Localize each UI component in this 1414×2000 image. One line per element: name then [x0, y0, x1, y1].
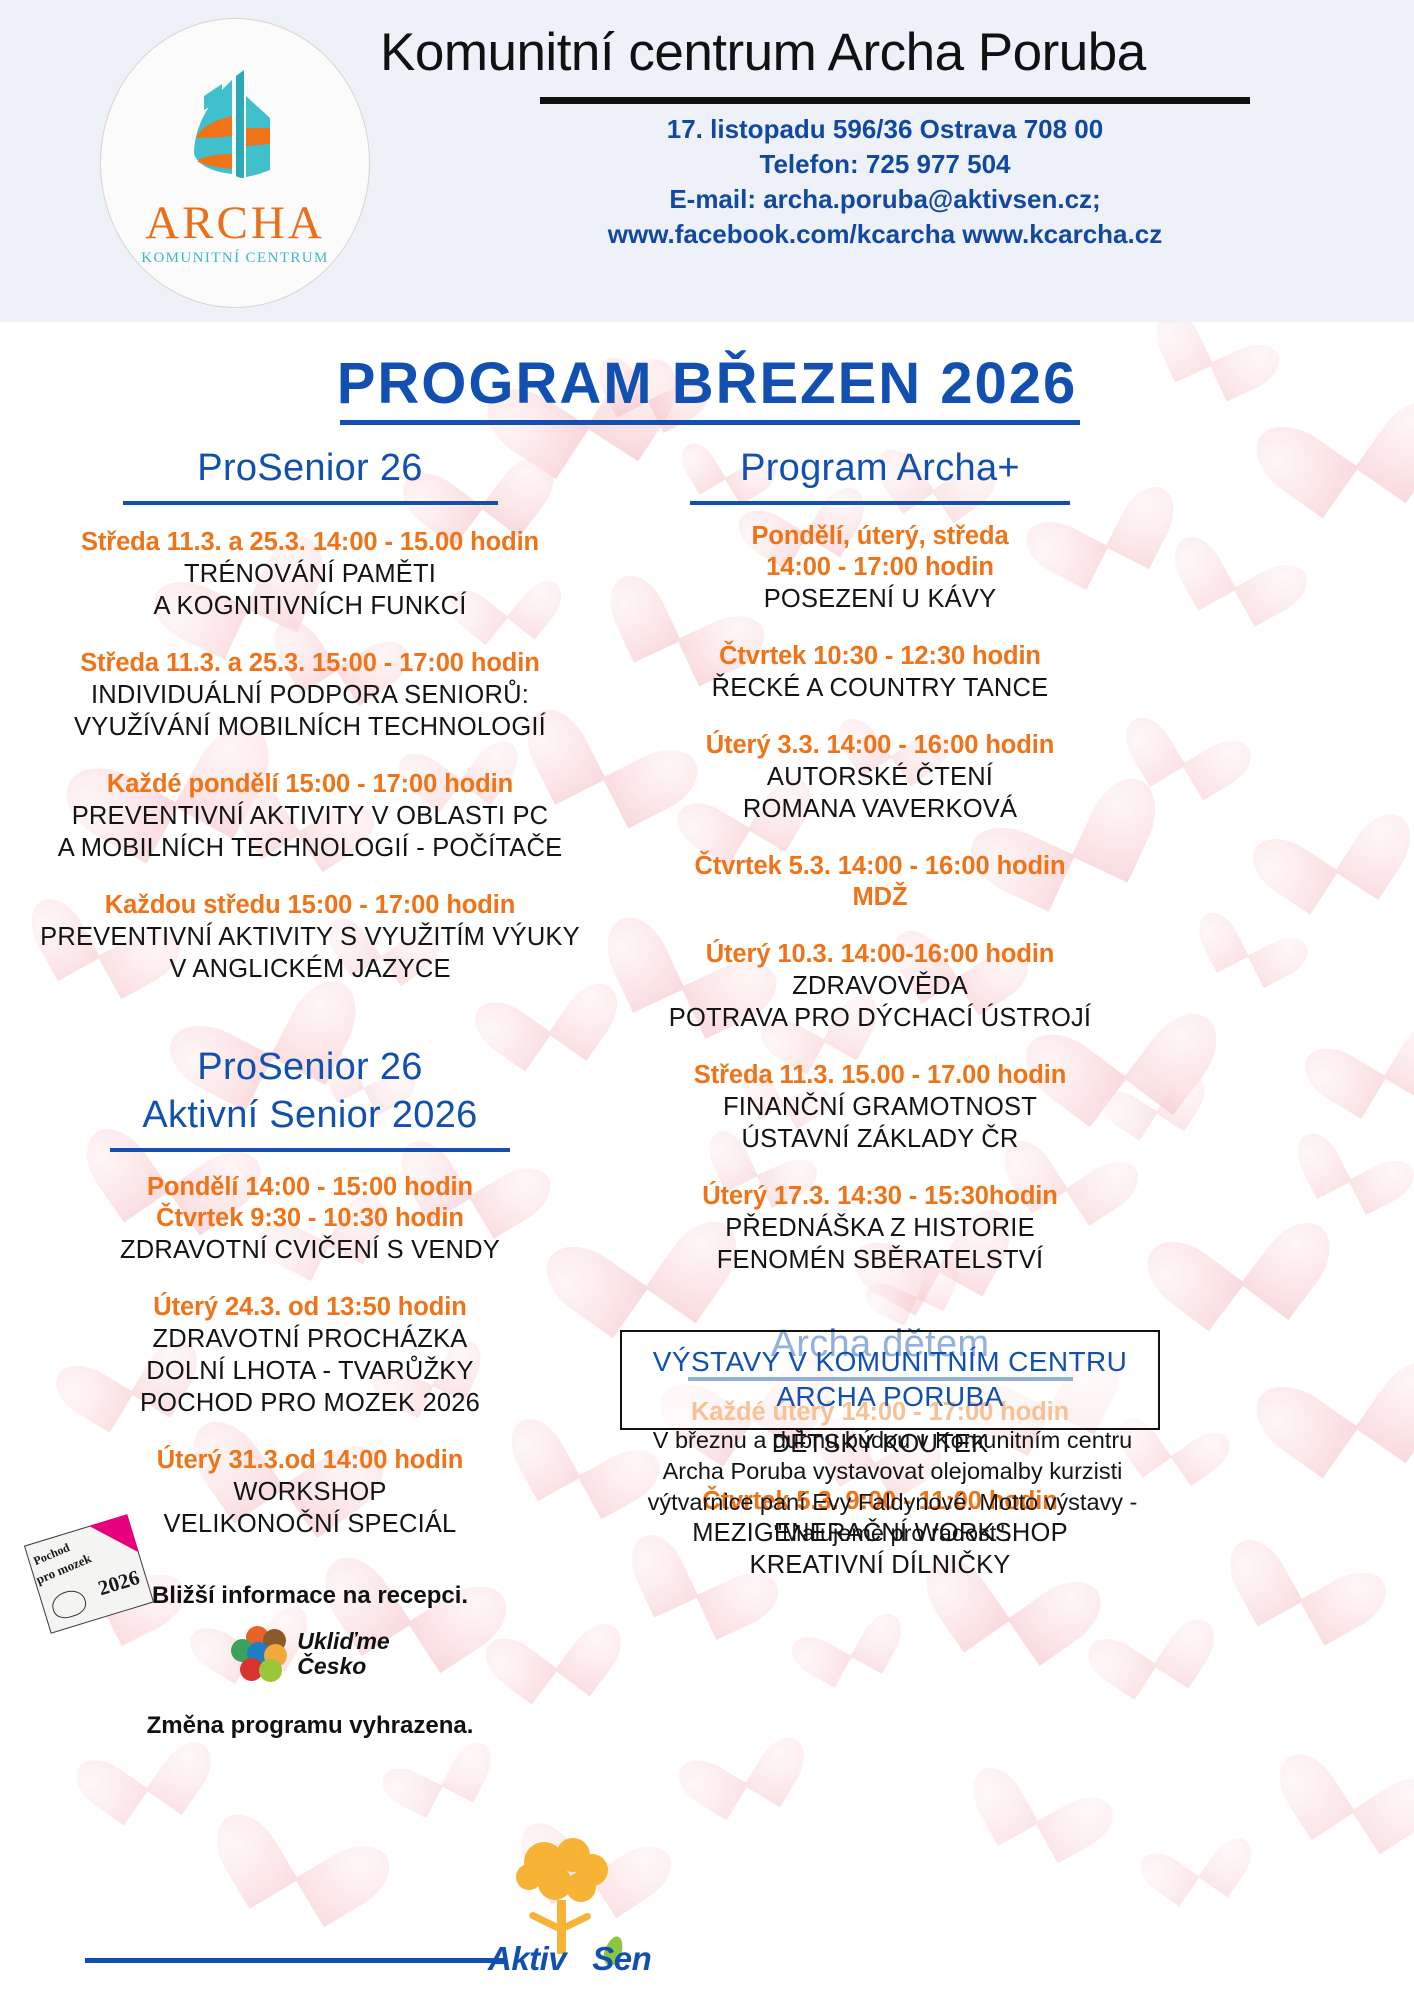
aktivsen-word-part1: Aktiv [488, 1940, 566, 1977]
contact-email[interactable]: E-mail: archa.poruba@aktivsen.cz; [380, 182, 1390, 217]
event-item: Středa 11.3. 15.00 - 17.00 hodin FINANČN… [600, 1060, 1160, 1155]
archa-logo: ARCHA KOMUNITNÍ CENTRUM [100, 18, 370, 308]
exhibition-desc-line: Archa Poruba vystavovat olejomalby kurzi… [610, 1456, 1175, 1487]
aktivsen-wordmark: AktivSen [488, 1940, 688, 1978]
aktivsen-logo: AktivSen [488, 1838, 688, 1993]
section-divider [110, 1148, 510, 1152]
event-item: Pondělí, úterý, středa 14:00 - 17:00 hod… [600, 521, 1160, 615]
uklidme-cesko-flower-icon [230, 1626, 286, 1682]
section-heading-line2: Aktivní Senior 2026 [30, 1091, 590, 1139]
section-divider [690, 501, 1070, 505]
event-item: Čtvrtek 5.3. 14:00 - 16:00 hodin MDŽ [600, 851, 1160, 913]
program-poster: ARCHA KOMUNITNÍ CENTRUM Komunitní centru… [0, 0, 1414, 2000]
event-item: Středa 11.3. a 25.3. 15:00 - 17:00 hodin… [30, 648, 590, 743]
page-title: PROGRAM BŘEZEN 2026 [0, 350, 1414, 417]
event-item: Pondělí 14:00 - 15:00 hodin Čtvrtek 9:30… [30, 1172, 590, 1266]
contact-address: 17. listopadu 596/36 Ostrava 708 00 [380, 112, 1390, 147]
header-band: ARCHA KOMUNITNÍ CENTRUM Komunitní centru… [0, 0, 1414, 322]
section-prosenior-26: ProSenior 26 Středa 11.3. a 25.3. 14:00 … [30, 444, 590, 985]
page-title-divider [340, 420, 1080, 425]
exhibition-description: V březnu a dubnu budou v Komunitním cent… [610, 1425, 1175, 1549]
event-item: Středa 11.3. a 25.3. 14:00 - 15.00 hodin… [30, 527, 590, 622]
org-title: Komunitní centrum Archa Poruba [380, 22, 1390, 83]
section-program-archa-plus: Program Archa+ Pondělí, úterý, středa 14… [600, 444, 1160, 1276]
exhibition-box: VÝSTAVY V KOMUNITNÍM CENTRU ARCHA PORUBA [620, 1330, 1160, 1430]
logo-wordmark: ARCHA [100, 196, 370, 250]
ark-boat-icon [174, 66, 294, 196]
uklidme-cesko-logo: Ukliďme Česko [30, 1626, 590, 1682]
section-divider [123, 501, 498, 505]
section-heading: Program Archa+ [600, 444, 1160, 492]
section-heading-line1: ProSenior 26 [30, 1043, 590, 1091]
event-item: Každé pondělí 15:00 - 17:00 hodin PREVEN… [30, 769, 590, 864]
event-item: Čtvrtek 10:30 - 12:30 hodin ŘECKÉ A COUN… [600, 641, 1160, 704]
contact-phone: Telefon: 725 977 504 [380, 147, 1390, 182]
event-item: Úterý 17.3. 14:30 - 15:30hodin PŘEDNÁŠKA… [600, 1181, 1160, 1276]
exhibition-title-line2: ARCHA PORUBA [632, 1379, 1148, 1414]
header-divider [540, 97, 1250, 104]
contact-websites[interactable]: www.facebook.com/kcarcha www.kcarcha.cz [380, 217, 1390, 252]
exhibition-desc-line: výtvarnice paní Evy Faldynové. Motto výs… [610, 1487, 1175, 1518]
section-heading: ProSenior 26 [30, 444, 590, 492]
event-item: Každou středu 15:00 - 17:00 hodin PREVEN… [30, 890, 590, 985]
section-aktivni-senior-2026: ProSenior 26 Aktivní Senior 2026 Pondělí… [30, 1043, 590, 1540]
event-item: Úterý 24.3. od 13:50 hodin ZDRAVOTNÍ PRO… [30, 1292, 590, 1419]
exhibition-desc-line: "Malujeme pro radost". [610, 1518, 1175, 1549]
event-item: Úterý 3.3. 14:00 - 16:00 hodin AUTORSKÉ … [600, 730, 1160, 825]
logo-subtitle: KOMUNITNÍ CENTRUM [100, 250, 370, 267]
contact-info: 17. listopadu 596/36 Ostrava 708 00 Tele… [380, 112, 1390, 252]
left-bottom-divider [85, 1958, 505, 1963]
event-item: Úterý 10.3. 14:00-16:00 hodin ZDRAVOVĚDA… [600, 939, 1160, 1034]
uklidme-cesko-text: Ukliďme Česko [297, 1629, 389, 1679]
exhibition-title-line1: VÝSTAVY V KOMUNITNÍM CENTRU [632, 1344, 1148, 1379]
exhibition-desc-line: V březnu a dubnu budou v Komunitním cent… [610, 1425, 1175, 1456]
aktivsen-word-part2: Sen [592, 1940, 651, 1977]
program-change-note: Změna programu vyhrazena. [30, 1712, 590, 1740]
event-highlight: POCHOD PRO MOZEK 2026 [30, 1387, 590, 1419]
